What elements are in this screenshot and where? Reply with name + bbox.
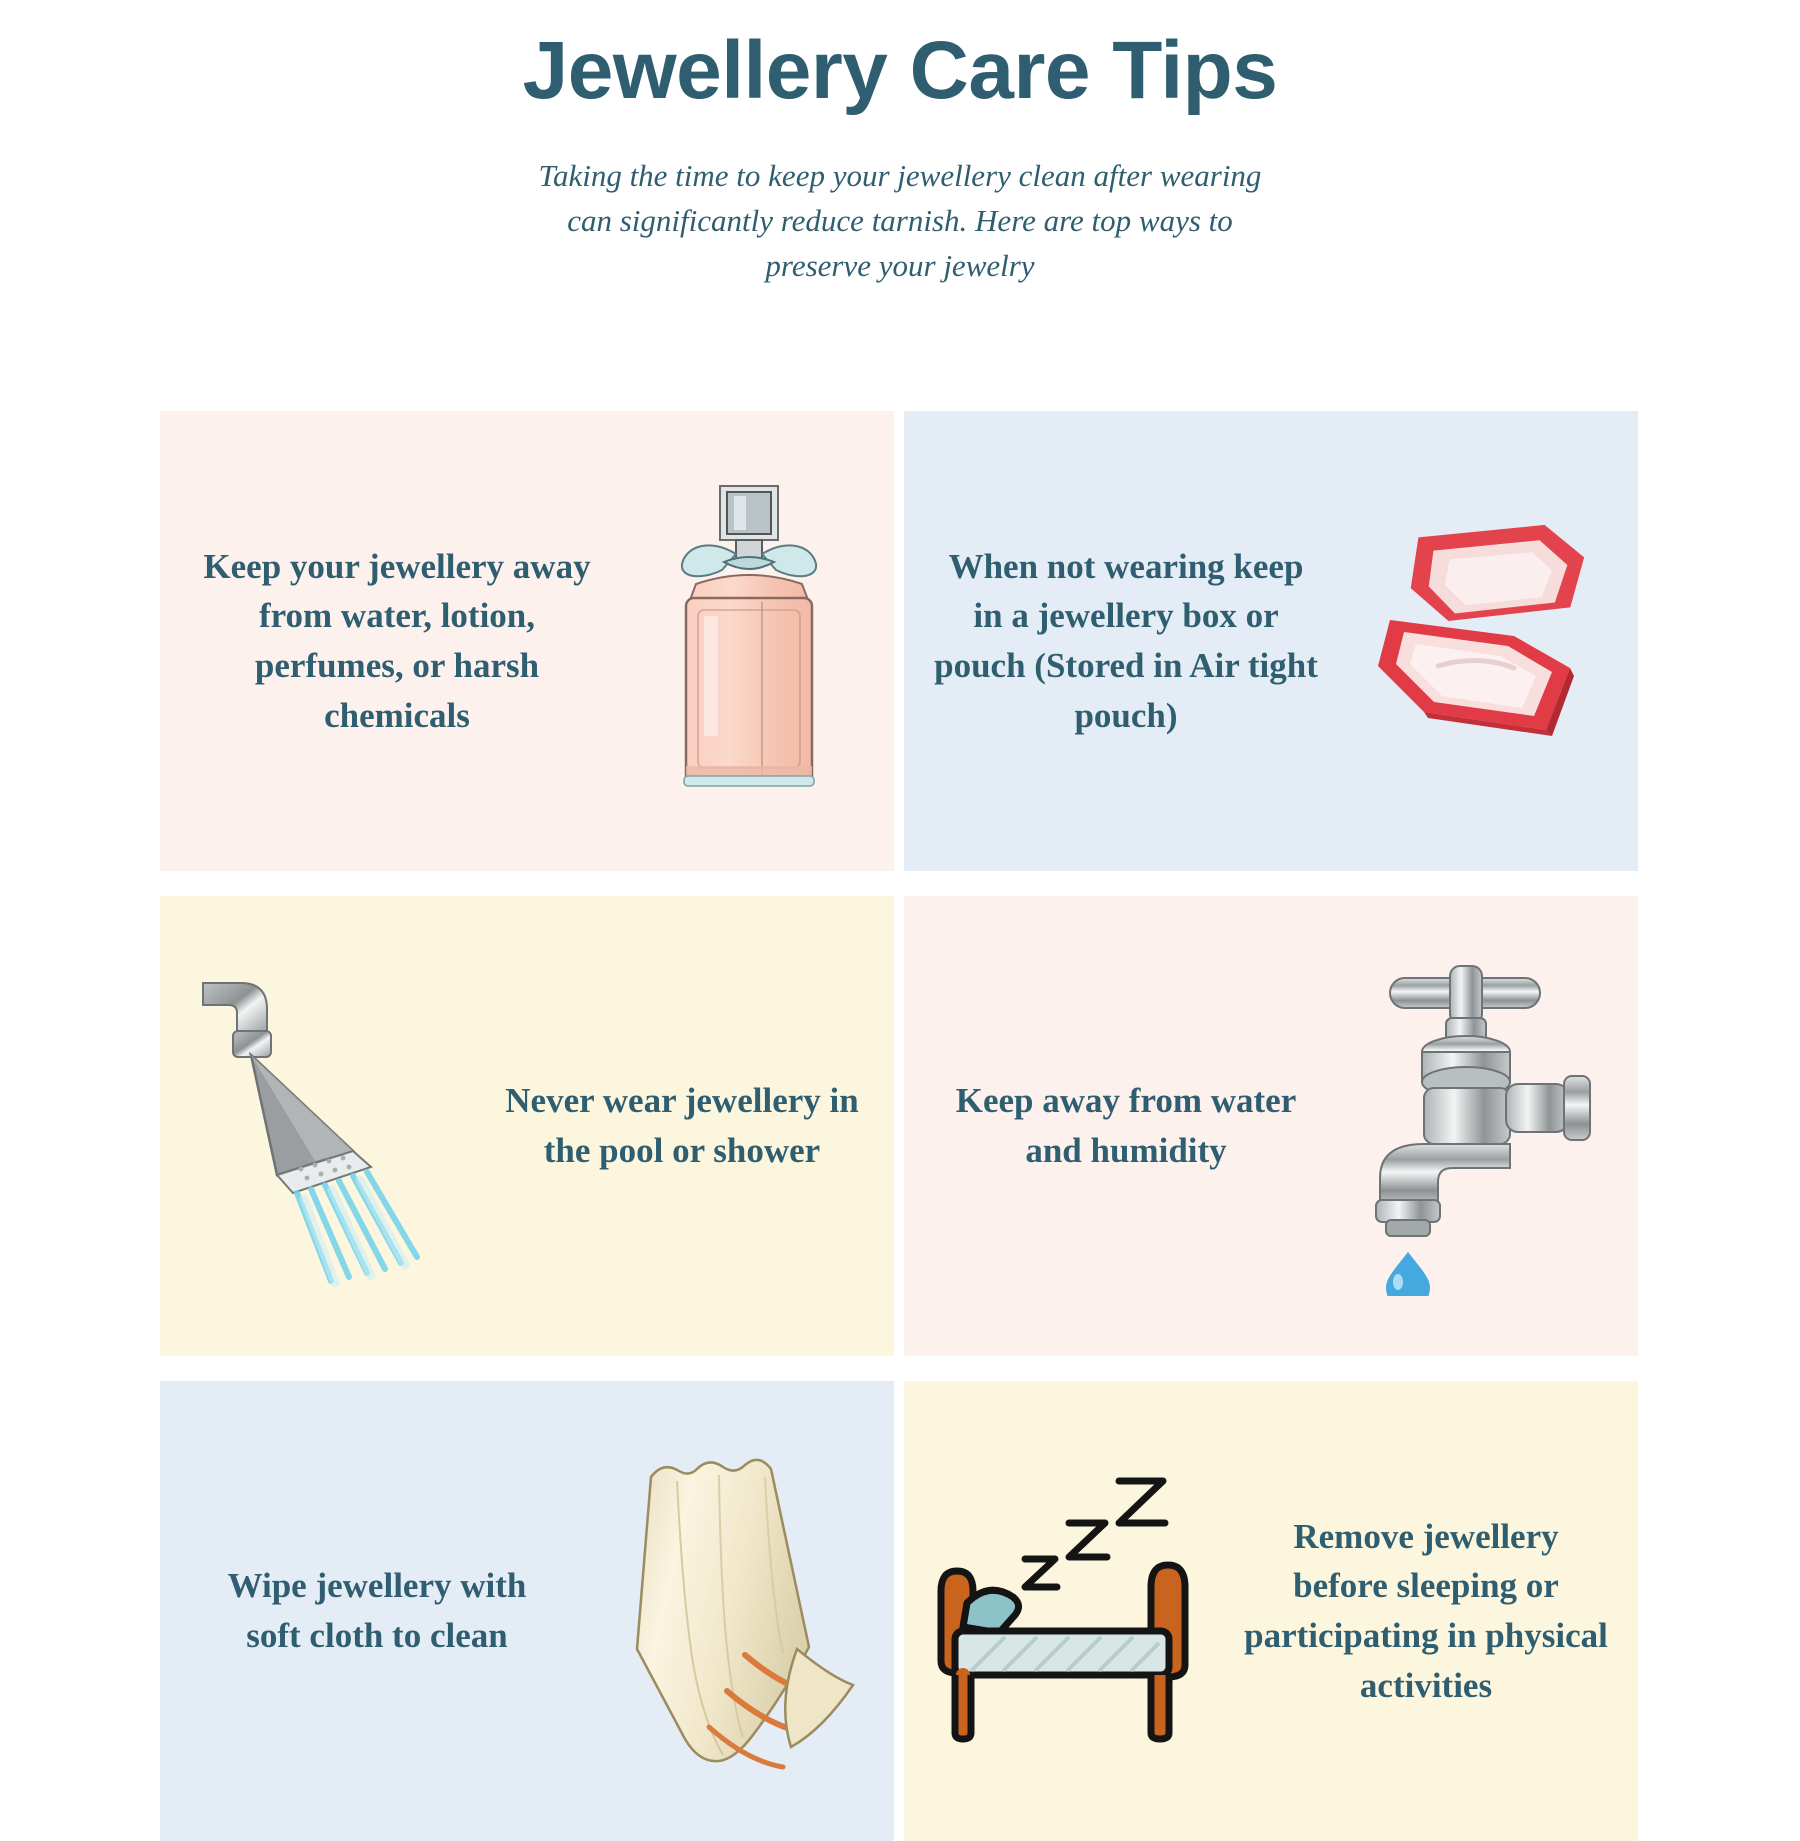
water-faucet-icon [1308, 956, 1638, 1296]
infographic-page: Jewellery Care Tips Taking the time to k… [0, 0, 1800, 1800]
tip-card-4-text: Keep away from water and humidity [904, 1076, 1308, 1175]
tip-card-1: Keep your jewellery away from water, lot… [160, 411, 894, 871]
tip-card-3: Never wear jewellery in the pool or show… [160, 896, 894, 1356]
tip-card-4: Keep away from water and humidity [904, 896, 1638, 1356]
bed-sleeping-icon [904, 1471, 1234, 1751]
tips-grid: Keep your jewellery away from water, lot… [160, 411, 1638, 1841]
tip-card-1-text: Keep your jewellery away from water, lot… [160, 542, 604, 741]
page-title: Jewellery Care Tips [0, 24, 1800, 118]
perfume-bottle-icon [604, 476, 894, 806]
shower-head-icon [160, 961, 490, 1291]
tip-card-6: Remove jewellery before sleeping or part… [904, 1381, 1638, 1841]
tip-card-2: When not wearing keep in a jewellery box… [904, 411, 1638, 871]
tip-card-5: Wipe jewellery with soft cloth to clean [160, 1381, 894, 1841]
jewellery-ring-box-icon [1328, 516, 1638, 766]
page-subtitle: Taking the time to keep your jewellery c… [520, 154, 1280, 289]
tip-card-6-text: Remove jewellery before sleeping or part… [1234, 1512, 1638, 1711]
soft-cloth-icon [564, 1441, 894, 1781]
tip-card-3-text: Never wear jewellery in the pool or show… [490, 1076, 894, 1175]
header: Jewellery Care Tips Taking the time to k… [0, 0, 1800, 289]
tip-card-2-text: When not wearing keep in a jewellery box… [904, 542, 1328, 741]
tip-card-5-text: Wipe jewellery with soft cloth to clean [160, 1561, 564, 1660]
